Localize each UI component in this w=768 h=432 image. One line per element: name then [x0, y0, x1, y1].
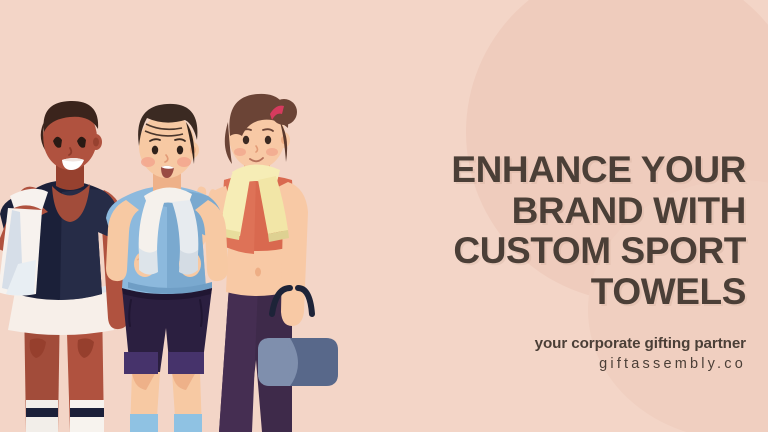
tagline: your corporate gifting partner — [398, 335, 746, 352]
athletes-illustration — [0, 0, 400, 432]
figure-boy-middle — [106, 104, 228, 432]
text-block: ENHANCE YOUR BRAND WITH CUSTOM SPORT TOW… — [398, 150, 746, 372]
promo-banner: ENHANCE YOUR BRAND WITH CUSTOM SPORT TOW… — [0, 0, 768, 432]
brand-url: giftassembly.co — [398, 356, 746, 372]
page-title: ENHANCE YOUR BRAND WITH CUSTOM SPORT TOW… — [398, 150, 746, 313]
